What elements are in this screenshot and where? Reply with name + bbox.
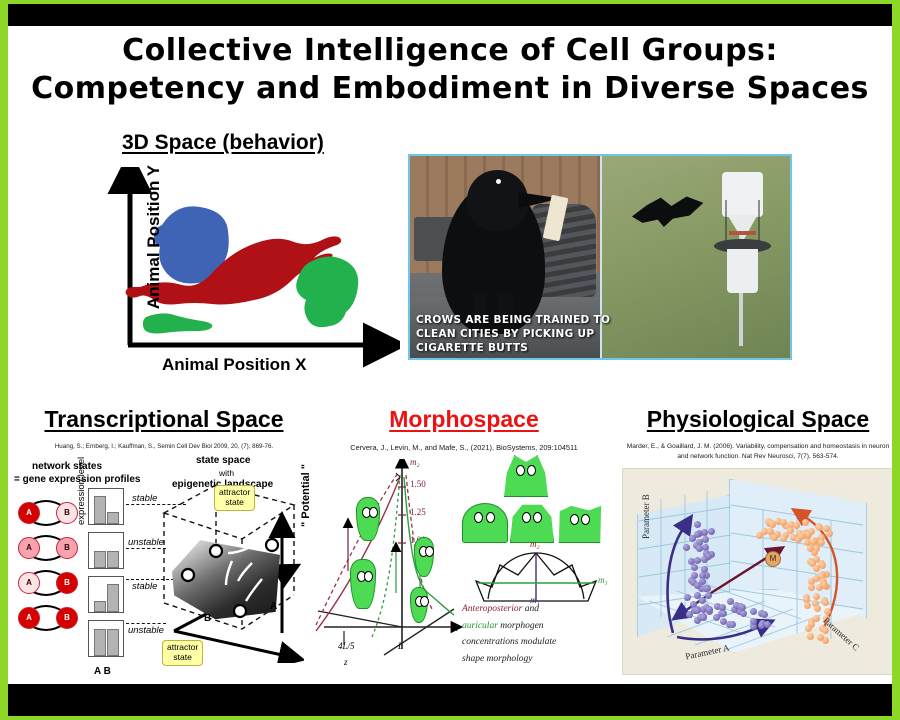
behavior-space-panel: 3D Space (behavior) Animal Position Y — [100, 131, 400, 381]
title-line-1: Collective Intelligence of Cell Groups: — [8, 32, 892, 70]
physiological-citation: Marder, E., & Goaillard, J. M. (2006). V… — [614, 442, 892, 462]
potential-axis-label: " Potential " — [300, 464, 312, 527]
data-point — [823, 525, 830, 532]
network-row-4: A B — [16, 600, 86, 635]
physiological-space-heading: Physiological Space — [614, 406, 892, 433]
morph-axis-m2-label: m₂ — [410, 457, 420, 467]
data-point — [804, 602, 811, 609]
flying-crow — [630, 192, 706, 245]
slide-canvas: Collective Intelligence of Cell Groups: … — [8, 26, 892, 684]
morph-desc-anteroposterior: Anteroposterior — [462, 604, 522, 614]
crow-video-still[interactable]: CROWS ARE BEING TRAINED TO CLEAN CITIES … — [408, 154, 792, 360]
data-point — [701, 556, 708, 563]
data-point — [780, 535, 787, 542]
morph-tick-150: 1.50 — [410, 479, 426, 489]
specimen-eye-right — [581, 514, 590, 525]
worm-eye-right — [369, 507, 378, 518]
morph-desc-morphogen: morphogen — [498, 621, 544, 631]
worm-shape-1 — [356, 497, 380, 541]
bar-a-3 — [94, 601, 106, 612]
crow-caption: CROWS ARE BEING TRAINED TO CLEAN CITIES … — [416, 314, 621, 356]
specimen-eye-right — [533, 512, 542, 523]
bar-b-3 — [107, 584, 119, 612]
specimen-eye-right — [486, 512, 495, 523]
data-point — [683, 544, 690, 551]
crow-eye — [496, 179, 501, 184]
page-title: Collective Intelligence of Cell Groups: … — [8, 32, 892, 109]
attractor-top-line2: state — [219, 498, 250, 508]
morph-x-tick-origin: L — [398, 641, 403, 651]
feeder-perch-bar — [729, 231, 756, 235]
data-point — [694, 582, 701, 589]
data-point — [694, 521, 701, 528]
data-point — [761, 611, 768, 618]
parameter-b-axis-label: Parameter B — [641, 494, 651, 539]
physiological-space-panel: Physiological Space Marder, E., & Goaill… — [614, 406, 892, 675]
morph-tick-125: 1.25 — [410, 507, 426, 517]
worm-shape-2 — [350, 559, 376, 609]
data-point — [750, 608, 757, 615]
morph-axis-z-label: z — [344, 657, 348, 667]
data-point — [705, 592, 712, 599]
morphospace-citation: Cervera, J., Levin, M., and Mafe, S., (2… — [314, 442, 614, 453]
morphospace-plot-svg — [314, 459, 464, 659]
network-row-3: A B — [16, 565, 86, 600]
behavior-x-axis-label: Animal Position X — [162, 355, 307, 375]
data-point — [694, 607, 701, 614]
morphospace-panel: Morphospace Cervera, J., Levin, M., and … — [314, 406, 614, 673]
specimen-eye-left — [522, 512, 531, 523]
blob-green-right — [296, 256, 358, 327]
data-point — [758, 622, 765, 629]
data-point — [816, 584, 823, 591]
data-point — [780, 519, 787, 526]
transcriptional-citation: Huang, S.; Ernberg, I.; Kauffman, S., Se… — [14, 442, 314, 451]
data-point — [814, 605, 821, 612]
behavior-y-axis-label: Animal Position Y — [144, 165, 164, 309]
data-point — [818, 539, 825, 546]
bar-chart-4 — [88, 620, 124, 657]
data-point — [817, 634, 824, 641]
expression-bar-column: A B — [88, 488, 128, 664]
specimen-eye-left — [516, 465, 525, 476]
morph-specimen-top — [502, 455, 550, 497]
top-black-bar — [8, 4, 892, 26]
morph-x-tick-left: 4L/5 — [338, 641, 355, 651]
data-point — [696, 545, 703, 552]
bottom-black-bar — [8, 684, 892, 716]
data-point — [808, 584, 815, 591]
data-point — [807, 633, 814, 640]
transcriptional-diagram: network states = gene expression profile… — [14, 455, 314, 670]
bar-a-1 — [94, 496, 106, 524]
morph-specimen-left — [462, 503, 508, 543]
morph-desc-line-4: shape morphology — [462, 651, 612, 668]
bar-a-2 — [94, 551, 106, 568]
morph-desc-line-3: concentrations modulate — [462, 634, 612, 651]
behavior-space-plot: Animal Position Y Animal Position X — [100, 167, 400, 382]
morph-desc-and: and — [522, 604, 539, 614]
specimen-eye-left — [474, 512, 483, 523]
axis-a-label: A — [270, 601, 277, 612]
slide-root: Collective Intelligence of Cell Groups: … — [0, 0, 900, 720]
bar-axis-label: A B — [94, 666, 111, 677]
morph-axis-x-label: x — [454, 623, 458, 633]
data-point — [808, 528, 815, 535]
attractor-callout-bottom: attractor state — [162, 640, 203, 666]
morphospace-heading: Morphospace — [314, 406, 614, 433]
morph-desc-auricular: auricular — [462, 621, 498, 631]
network-row-2: A B — [16, 530, 86, 565]
morph-outline-m3-label: m₃ — [598, 575, 608, 585]
data-point — [729, 621, 736, 628]
data-point — [706, 606, 713, 613]
morphospace-description: Anteroposterior and auricular morphogen … — [462, 601, 612, 668]
bar-b-2 — [107, 551, 119, 568]
data-point — [699, 597, 706, 604]
axis-b-label: B — [204, 613, 211, 624]
feeder-base — [727, 249, 757, 293]
data-point — [704, 585, 711, 592]
bar-b-1 — [107, 512, 119, 524]
data-point — [750, 618, 757, 625]
morph-outline-m2-label: m₂ — [530, 539, 540, 549]
data-point — [813, 593, 820, 600]
morph-specimen-middle — [510, 503, 554, 543]
worm-eye-right — [420, 596, 429, 607]
bar-b-4 — [107, 629, 119, 656]
specimen-eye-right — [527, 465, 536, 476]
bar-a-4 — [94, 629, 106, 656]
data-point — [798, 533, 805, 540]
morph-specimen-right — [558, 505, 602, 543]
data-point — [824, 608, 831, 615]
worm-eye-right — [425, 546, 434, 557]
behavior-space-heading: 3D Space (behavior) — [122, 131, 324, 155]
network-states-caption-line1: network states — [32, 461, 102, 472]
bar-chart-2 — [88, 532, 124, 569]
morphospace-diagram: m₂ 1.50 1.25 1.00 m₃ 4L/5 L x z — [314, 455, 614, 673]
morph-desc-line-1: Anteroposterior and — [462, 601, 612, 618]
morph-desc-line-2: auricular morphogen — [462, 618, 612, 635]
worm-eye-right — [364, 571, 373, 582]
center-marker: M — [765, 551, 781, 567]
bar-chart-3 — [88, 576, 124, 613]
data-point — [739, 604, 746, 611]
state-space-caption-line1: state space — [196, 455, 250, 466]
specimen-eye-left — [570, 514, 579, 525]
transcriptional-space-panel: Transcriptional Space Huang, S.; Ernberg… — [14, 406, 314, 670]
crow-photo-right — [600, 156, 790, 358]
attractor-callout-top: attractor state — [214, 485, 255, 511]
state-space-caption-line2: with — [219, 468, 234, 478]
physiological-diagram: M Parameter B Parameter A Parameter C — [622, 468, 892, 675]
blob-green-left — [143, 313, 212, 333]
transcriptional-space-heading: Transcriptional Space — [14, 406, 314, 433]
bar-chart-1 — [88, 488, 124, 525]
expression-level-label: expression level — [76, 457, 87, 525]
title-line-2: Competency and Embodiment in Diverse Spa… — [8, 70, 892, 108]
attractor-bottom-line2: state — [167, 653, 198, 663]
